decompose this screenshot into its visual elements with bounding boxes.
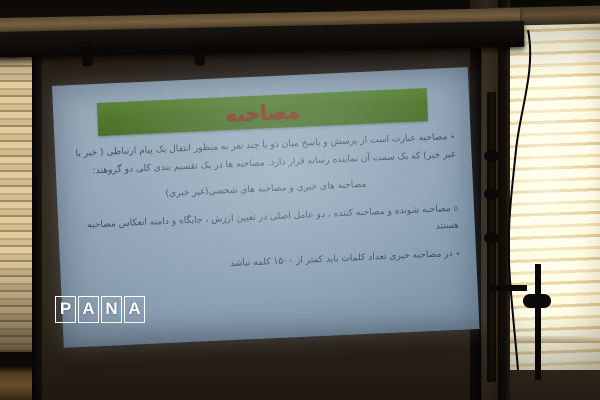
pana-letter-a1: A <box>78 296 99 323</box>
pole-knob-mid <box>484 188 499 200</box>
slide-title: مصاحبه <box>225 98 300 125</box>
wall-column-right-edge <box>498 0 507 400</box>
bullet-marker-1: ٭ <box>450 132 455 141</box>
wood-panel-shading <box>0 22 36 352</box>
window-light-glow <box>506 10 600 370</box>
slide-paragraph-4-text: در مصاحبه خبری تعداد کلمات باید کمتر از … <box>230 248 453 268</box>
stand-cross-arm <box>489 285 527 291</box>
casing-mount-bracket <box>82 46 93 66</box>
slide-paragraph-3: ٥ مصاحبه شونده و مصاحبه کننده ، دو عامل … <box>76 199 459 252</box>
slide-paragraph-2-text: مصاحبه های خبری و مصاحبه های شخصی(غیر خب… <box>165 180 366 199</box>
pole-knob-upper <box>484 150 499 162</box>
screen-edge-left <box>32 28 42 400</box>
slide-paragraph-1-text: مصاحبه عبارت است از پرسش و پاسخ میان دو … <box>75 132 455 176</box>
slide-paragraph-3-text: مصاحبه شونده و مصاحبه کننده ، دو عامل اص… <box>87 204 459 232</box>
bullet-marker-4: ٭ <box>455 248 460 257</box>
window-lower-panel <box>506 340 600 400</box>
pana-letter-n: N <box>101 296 122 323</box>
stand-clamp-head <box>523 294 551 308</box>
slide-title-banner: مصاحبه <box>97 88 428 136</box>
pana-letter-p: P <box>55 296 76 323</box>
stand-vertical-arm <box>535 264 541 380</box>
casing-mount-bracket-2 <box>194 46 205 66</box>
pana-watermark: P A N A <box>55 296 145 323</box>
pana-letter-a2: A <box>124 296 145 323</box>
pole-knob-lower <box>484 232 499 244</box>
slide-body: ٭ مصاحبه عبارت است از پرسش و پاسخ میان د… <box>73 128 461 282</box>
slide-paragraph-1: ٭ مصاحبه عبارت است از پرسش و پاسخ میان د… <box>73 128 456 181</box>
photo-scene: مصاحبه ٭ مصاحبه عبارت است از پرسش و پاسخ… <box>0 0 600 400</box>
bullet-marker-3: ٥ <box>453 203 458 212</box>
